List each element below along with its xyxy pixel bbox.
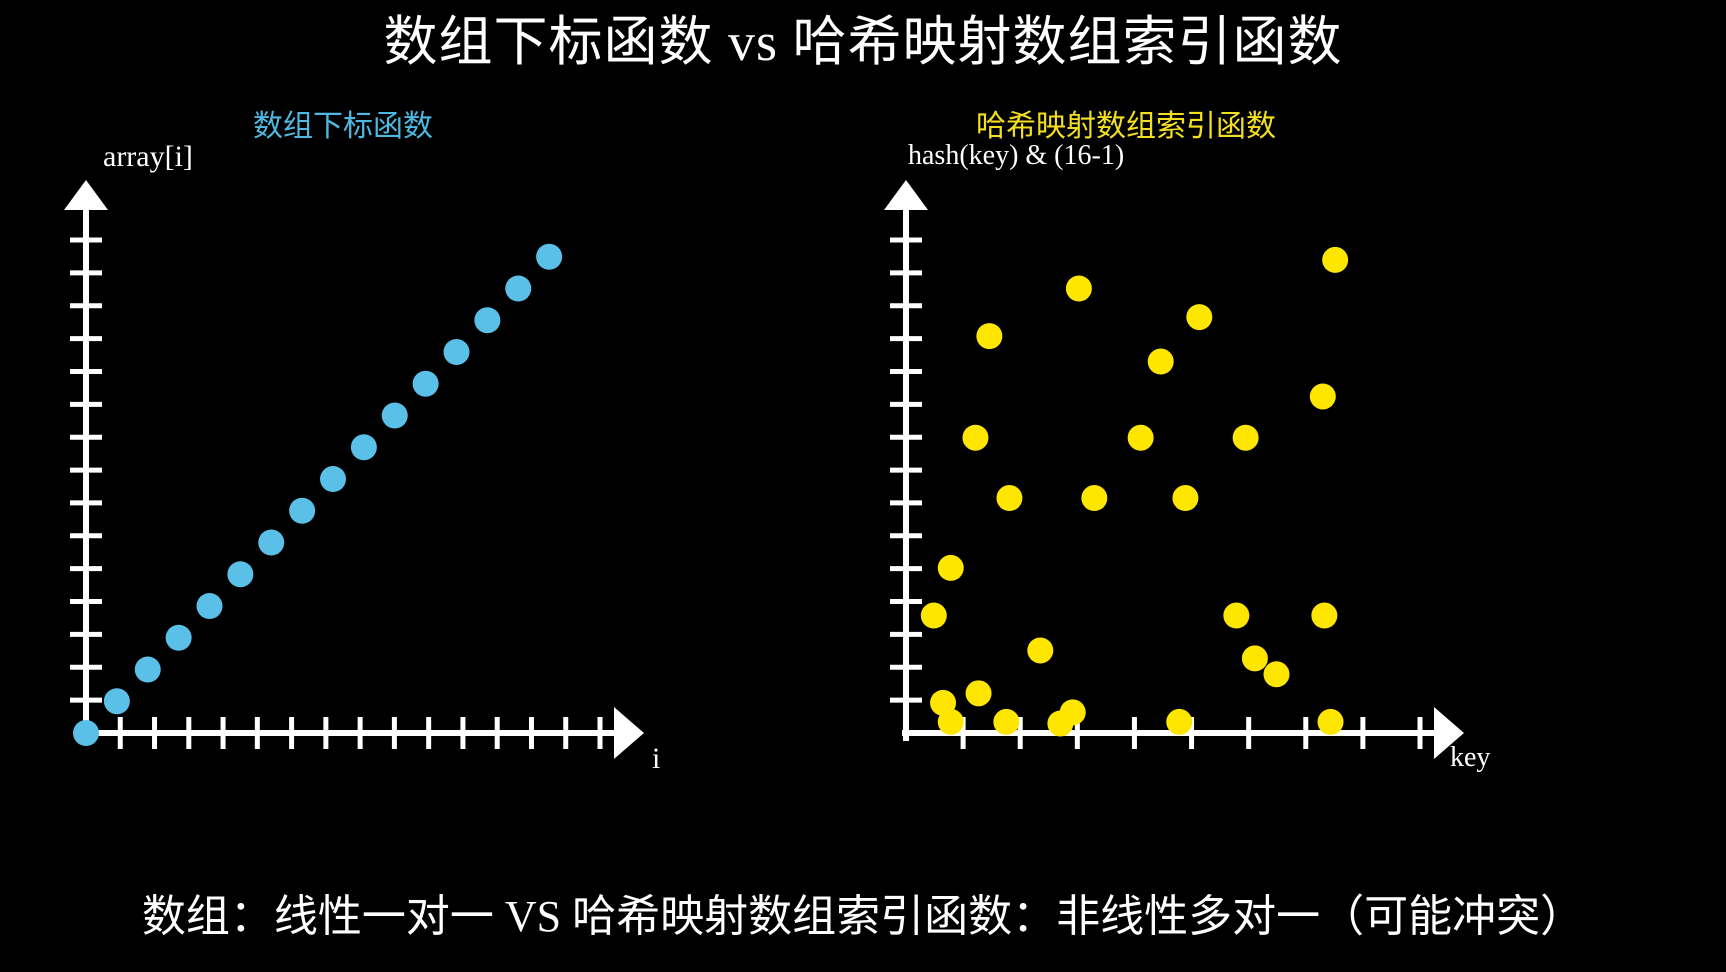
- data-point: [1223, 603, 1249, 629]
- data-point: [166, 625, 192, 651]
- right-chart-svg: [880, 160, 1500, 780]
- data-point: [474, 307, 500, 333]
- data-point: [1186, 304, 1212, 330]
- data-point: [536, 244, 562, 270]
- right-chart-plot-area: [880, 160, 1500, 780]
- x-axis-arrowhead: [1434, 707, 1464, 759]
- data-point: [1066, 276, 1092, 302]
- data-point: [1242, 645, 1268, 671]
- data-point: [996, 485, 1022, 511]
- data-point: [505, 276, 531, 302]
- left-chart-plot-area: [60, 160, 680, 780]
- data-point: [993, 709, 1019, 735]
- data-point: [1310, 383, 1336, 409]
- data-point: [1233, 425, 1259, 451]
- right-panel-subtitle: 哈希映射数组索引函数: [976, 110, 1276, 144]
- data-point: [1128, 425, 1154, 451]
- data-point: [258, 530, 284, 556]
- data-point: [382, 403, 408, 429]
- data-point: [289, 498, 315, 524]
- data-point: [1060, 699, 1086, 725]
- data-point: [444, 339, 470, 365]
- data-point: [351, 434, 377, 460]
- data-point: [413, 371, 439, 397]
- data-point: [1322, 247, 1348, 273]
- data-point: [104, 688, 130, 714]
- data-point: [921, 603, 947, 629]
- x-axis-arrowhead: [614, 707, 644, 759]
- data-point: [966, 680, 992, 706]
- data-point: [197, 593, 223, 619]
- data-point: [938, 709, 964, 735]
- data-point: [1081, 485, 1107, 511]
- left-panel-subtitle: 数组下标函数: [253, 110, 433, 144]
- data-point: [135, 657, 161, 683]
- data-point: [1311, 603, 1337, 629]
- data-point: [1264, 661, 1290, 687]
- y-axis-arrowhead: [64, 180, 108, 210]
- data-point: [1148, 349, 1174, 375]
- data-point: [227, 561, 253, 587]
- data-point: [962, 425, 988, 451]
- slide-root: 数组下标函数 vs 哈希映射数组索引函数 数组下标函数 哈希映射数组索引函数 a…: [0, 0, 1726, 972]
- data-point: [1027, 637, 1053, 663]
- data-point: [976, 323, 1002, 349]
- data-point: [320, 466, 346, 492]
- page-title: 数组下标函数 vs 哈希映射数组索引函数: [0, 6, 1726, 78]
- data-point: [938, 555, 964, 581]
- data-point: [73, 720, 99, 746]
- left-chart-svg: [60, 160, 680, 780]
- data-point: [1172, 485, 1198, 511]
- summary-caption: 数组：线性一对一 VS 哈希映射数组索引函数：非线性多对一（可能冲突）: [0, 886, 1726, 948]
- data-point: [1166, 709, 1192, 735]
- data-point: [1318, 709, 1344, 735]
- y-axis-arrowhead: [884, 180, 928, 210]
